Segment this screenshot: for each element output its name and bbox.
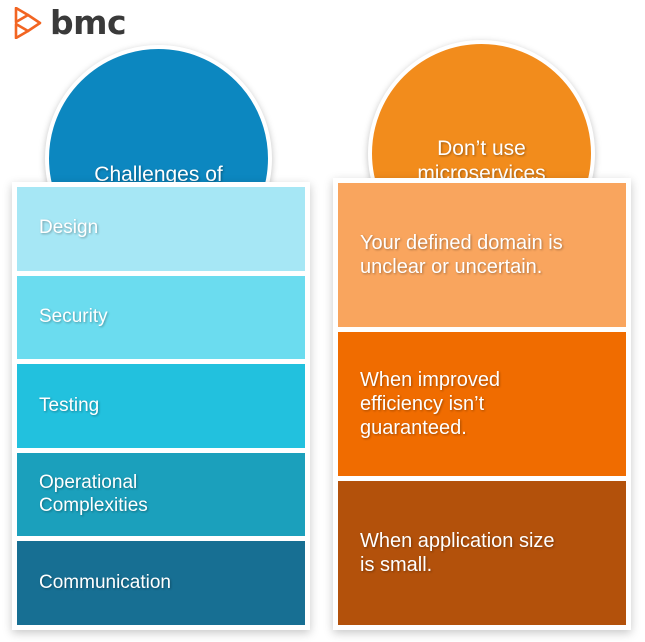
column-dont-use: Don’t use microservices when… Your defin… [332, 0, 632, 642]
band-efficiency-not-guaranteed[interactable]: When improved efficiency isn’t guarantee… [338, 332, 626, 476]
band-operational-complexities[interactable]: Operational Complexities [17, 453, 305, 537]
bmc-logo: bmc [14, 6, 126, 39]
band-stack-dont-use: Your defined domain is unclear or uncert… [333, 178, 631, 630]
band-label-design: Design [39, 217, 98, 240]
column-challenges: Challenges of microservices Design Secur… [11, 0, 311, 642]
band-label-operational-complexities: Operational Complexities [39, 472, 148, 518]
band-communication[interactable]: Communication [17, 541, 305, 625]
bmc-bowtie-icon [14, 7, 44, 39]
band-label-unclear-domain: Your defined domain is unclear or uncert… [360, 231, 563, 279]
band-label-small-application: When application size is small. [360, 529, 555, 577]
band-label-security: Security [39, 306, 108, 329]
bmc-wordmark: bmc [50, 6, 126, 39]
band-design[interactable]: Design [17, 187, 305, 271]
band-testing[interactable]: Testing [17, 364, 305, 448]
band-label-efficiency-not-guaranteed: When improved efficiency isn’t guarantee… [360, 368, 500, 440]
microservices-infographic: Challenges of microservices Design Secur… [0, 0, 645, 642]
band-security[interactable]: Security [17, 276, 305, 360]
band-stack-challenges: Design Security Testing Operational Comp… [12, 182, 310, 630]
band-unclear-domain[interactable]: Your defined domain is unclear or uncert… [338, 183, 626, 327]
band-label-communication: Communication [39, 572, 171, 595]
band-label-testing: Testing [39, 395, 99, 418]
band-small-application[interactable]: When application size is small. [338, 481, 626, 625]
